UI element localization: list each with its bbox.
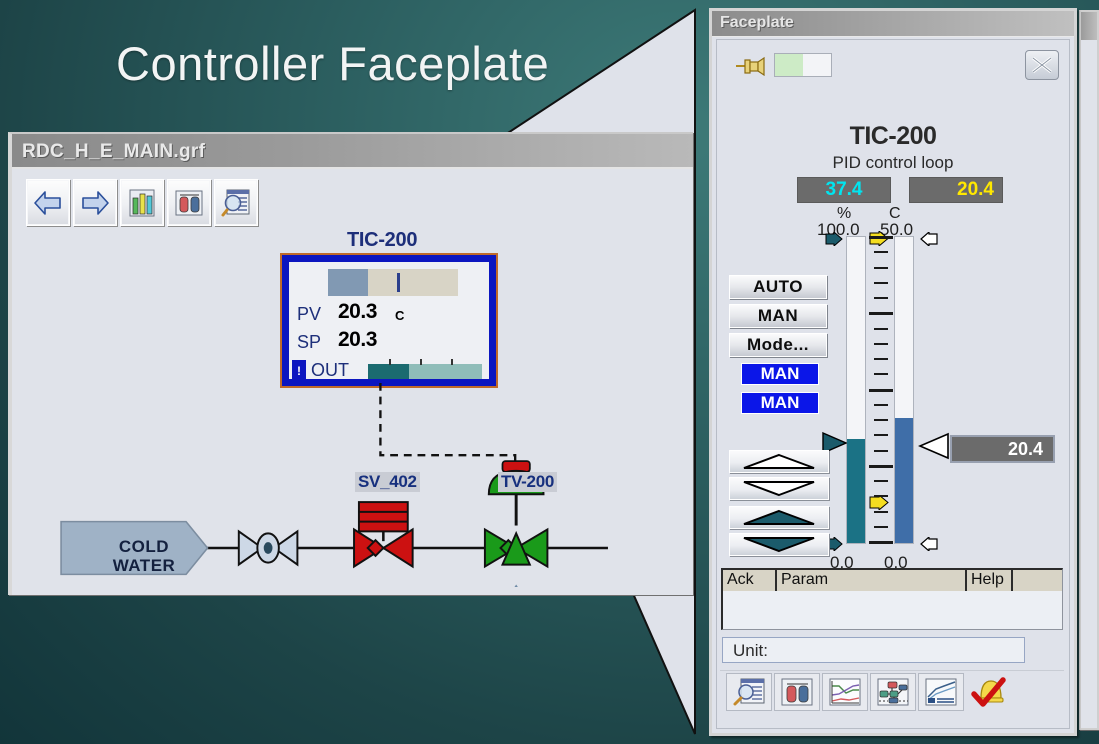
scale-tick-minor bbox=[874, 267, 888, 269]
pv-bargraph-fill bbox=[895, 418, 913, 543]
pin-icon[interactable] bbox=[735, 56, 767, 76]
signal-line bbox=[380, 383, 515, 467]
scale-tick-minor bbox=[874, 526, 888, 528]
scale-tick-minor bbox=[874, 419, 888, 421]
faceplate-loop-description: PID control loop bbox=[717, 153, 1069, 173]
triangle-down-filled-icon bbox=[730, 534, 828, 555]
cold-water-line2: WATER bbox=[84, 556, 204, 575]
scale-tick-minor bbox=[874, 328, 888, 330]
faceplate-pv-value: 20.4 bbox=[909, 177, 1003, 203]
coarse-down-button[interactable] bbox=[729, 477, 829, 500]
tanks-icon bbox=[779, 677, 815, 707]
faceplate-reports-button[interactable] bbox=[726, 673, 772, 711]
triangle-down-outline-icon bbox=[730, 478, 828, 499]
faceplate-network-button[interactable] bbox=[870, 673, 916, 711]
scale-tick-minor bbox=[874, 251, 888, 253]
pv-pointer-icon[interactable] bbox=[918, 431, 950, 461]
scale-tick-minor bbox=[874, 373, 888, 375]
faceplate-body: TIC-200 PID control loop 37.4 20.4 % C 1… bbox=[716, 39, 1070, 729]
unit-field[interactable]: Unit: bbox=[722, 637, 1025, 663]
scale-tick-minor bbox=[874, 343, 888, 345]
tag-sv402: SV_402 bbox=[355, 472, 420, 492]
faceplate-window-title: Faceplate bbox=[720, 14, 794, 32]
fine-up-button[interactable] bbox=[729, 506, 829, 529]
column-header-ack: Ack bbox=[723, 570, 777, 591]
out-value-readout[interactable]: 20.4 bbox=[950, 435, 1055, 463]
faceplate-alarm-ack-button[interactable] bbox=[966, 673, 1012, 711]
status-indicator bbox=[774, 53, 832, 77]
background-window-titlebar bbox=[1081, 12, 1097, 40]
pv-high-limit-marker-icon bbox=[920, 232, 938, 246]
faceplate-trend-button[interactable] bbox=[822, 673, 868, 711]
triangle-up-filled-icon bbox=[730, 507, 828, 528]
status-indicator-inactive bbox=[803, 54, 831, 76]
coarse-up-button[interactable] bbox=[729, 450, 829, 473]
status-indicator-active bbox=[775, 54, 803, 76]
column-header-help[interactable]: Help bbox=[967, 570, 1013, 591]
out-bargraph bbox=[846, 236, 866, 544]
mode-button[interactable]: Mode... bbox=[729, 333, 827, 357]
trend-chart-icon bbox=[827, 677, 863, 707]
faceplate-loop-tag: TIC-200 bbox=[717, 122, 1069, 151]
faceplate-tanks-button[interactable] bbox=[774, 673, 820, 711]
faceplate-toolbar bbox=[720, 670, 1064, 712]
chart-detail-icon bbox=[923, 677, 959, 707]
auto-button[interactable]: AUTO bbox=[729, 275, 827, 299]
mode-status-1: MAN bbox=[741, 363, 819, 385]
hmi-window-title: RDC_H_E_MAIN.grf bbox=[22, 141, 205, 163]
mode-status-2: MAN bbox=[741, 392, 819, 414]
faceplate-detail-button[interactable] bbox=[918, 673, 964, 711]
scale-tick-minor bbox=[874, 297, 888, 299]
scale-tick-minor bbox=[874, 434, 888, 436]
scale-tick-minor bbox=[874, 404, 888, 406]
close-icon bbox=[1026, 51, 1058, 79]
man-button[interactable]: MAN bbox=[729, 304, 827, 328]
scale-tick-major bbox=[869, 389, 893, 392]
message-table: Ack Param Help bbox=[721, 568, 1063, 630]
hmi-window: RDC_H_E_MAIN.grf bbox=[8, 132, 693, 595]
triangle-up-outline-icon bbox=[730, 451, 828, 472]
scale-tick-minor bbox=[874, 358, 888, 360]
scale-tick-minor bbox=[874, 450, 888, 452]
faceplate-titlebar[interactable]: Faceplate bbox=[712, 11, 1074, 37]
isolation-valve bbox=[239, 531, 298, 564]
network-diagram-icon bbox=[875, 677, 911, 707]
cold-water-line1: COLD bbox=[84, 537, 204, 556]
hmi-titlebar: RDC_H_E_MAIN.grf bbox=[12, 134, 693, 169]
faceplate-close-button[interactable] bbox=[1025, 50, 1059, 80]
faceplate-window: Faceplate TIC-200 PID control loop 37.4 … bbox=[709, 8, 1077, 736]
tag-tv200: TV-200 bbox=[498, 472, 557, 492]
hmi-canvas: TIC-200 PV 20.3 C SP 20.3 ! OUT bbox=[22, 172, 691, 595]
fine-down-button[interactable] bbox=[729, 533, 829, 556]
out-bargraph-fill bbox=[847, 439, 865, 543]
scale-tick-minor bbox=[874, 282, 888, 284]
pid-diagram bbox=[22, 172, 691, 587]
pv-low-limit-marker-icon bbox=[920, 537, 938, 551]
report-search-icon bbox=[731, 677, 767, 707]
alarm-ack-icon bbox=[970, 676, 1008, 708]
valve-sv402[interactable] bbox=[354, 502, 413, 566]
cold-water-label: COLD WATER bbox=[84, 537, 204, 575]
message-table-header: Ack Param Help bbox=[723, 570, 1062, 591]
scale-tick-minor bbox=[874, 511, 888, 513]
out-high-limit-marker-icon bbox=[825, 232, 843, 246]
scale-tick-major bbox=[869, 236, 893, 239]
faceplate-out-value: 37.4 bbox=[797, 177, 891, 203]
scale-tick-major bbox=[869, 541, 893, 544]
scale-tick-major bbox=[869, 312, 893, 315]
column-header-param: Param bbox=[777, 570, 967, 591]
background-window bbox=[1079, 10, 1099, 730]
scale-tick-minor bbox=[874, 480, 888, 482]
scale-tick-minor bbox=[874, 495, 888, 497]
pv-bargraph bbox=[894, 236, 914, 544]
bargraph-scale bbox=[869, 236, 895, 544]
scale-tick-major bbox=[869, 465, 893, 468]
